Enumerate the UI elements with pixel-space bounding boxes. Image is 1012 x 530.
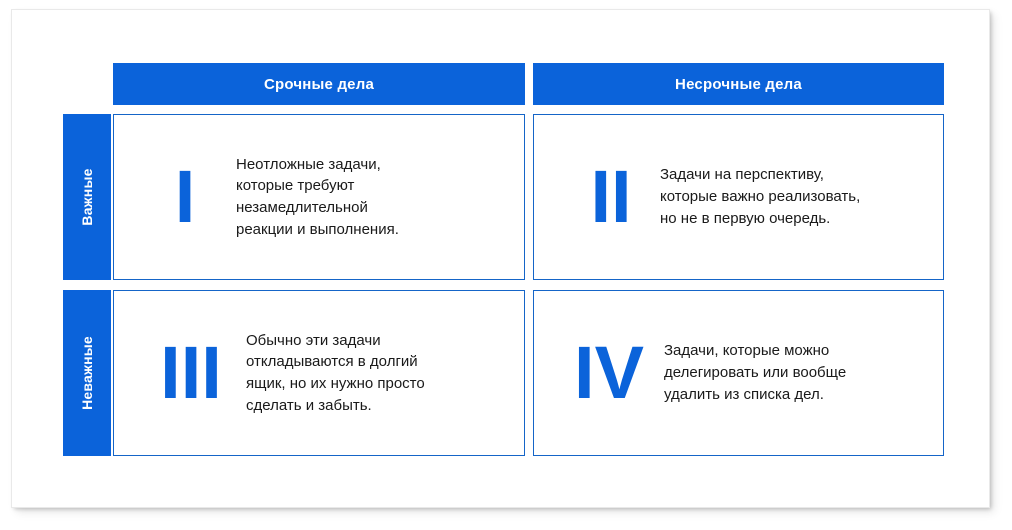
column-header-urgent-label: Срочные дела [264, 76, 374, 93]
row-label-unimportant-text: Неважные [79, 336, 95, 410]
quadrant-4-numeral: IV [554, 336, 664, 410]
quadrant-1-numeral: I [136, 160, 234, 234]
quadrant-card-3[interactable]: III Обычно эти задачи откладываются в до… [113, 290, 525, 456]
column-header-not-urgent-label: Несрочные дела [675, 76, 802, 93]
quadrant-card-4[interactable]: IV Задачи, которые можно делегировать ил… [533, 290, 944, 456]
quadrant-1-description: Неотложные задачи, которые требуют незам… [236, 154, 524, 241]
row-label-important: Важные [63, 114, 111, 280]
row-label-unimportant: Неважные [63, 290, 111, 456]
quadrant-3-numeral: III [136, 336, 246, 410]
eisenhower-matrix-canvas: Срочные дела Несрочные дела Важные Неваж… [12, 10, 989, 507]
matrix-grid: Срочные дела Несрочные дела Важные Неваж… [12, 10, 989, 507]
row-label-important-text: Важные [79, 168, 95, 225]
quadrant-2-description: Задачи на перспективу, которые важно реа… [660, 164, 943, 229]
column-header-not-urgent: Несрочные дела [533, 63, 944, 105]
column-header-urgent: Срочные дела [113, 63, 525, 105]
quadrant-2-numeral: II [562, 160, 660, 234]
quadrant-4-description: Задачи, которые можно делегировать или в… [664, 340, 943, 405]
quadrant-card-1[interactable]: I Неотложные задачи, которые требуют нез… [113, 114, 525, 280]
quadrant-3-description: Обычно эти задачи откладываются в долгий… [246, 330, 524, 417]
quadrant-card-2[interactable]: II Задачи на перспективу, которые важно … [533, 114, 944, 280]
